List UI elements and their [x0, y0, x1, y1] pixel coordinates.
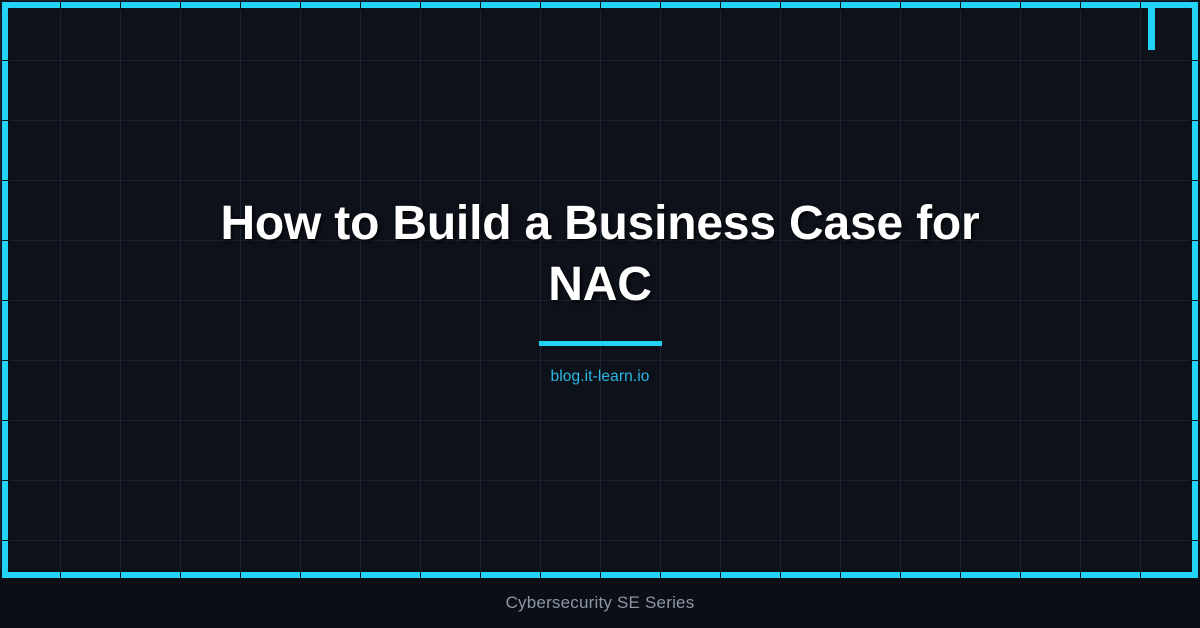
card-content: How to Build a Business Case for NAC blo… — [0, 0, 1200, 578]
blog-title-card: How to Build a Business Case for NAC blo… — [0, 0, 1200, 628]
page-title-line-1: How to Build a Business Case for — [220, 197, 979, 250]
footer-series-label: Cybersecurity SE Series — [0, 578, 1200, 628]
title-accent-underline — [539, 341, 662, 346]
page-title: How to Build a Business Case for NAC — [190, 193, 1010, 315]
site-url-label: blog.it-learn.io — [551, 368, 650, 386]
page-title-line-2: NAC — [548, 258, 651, 311]
